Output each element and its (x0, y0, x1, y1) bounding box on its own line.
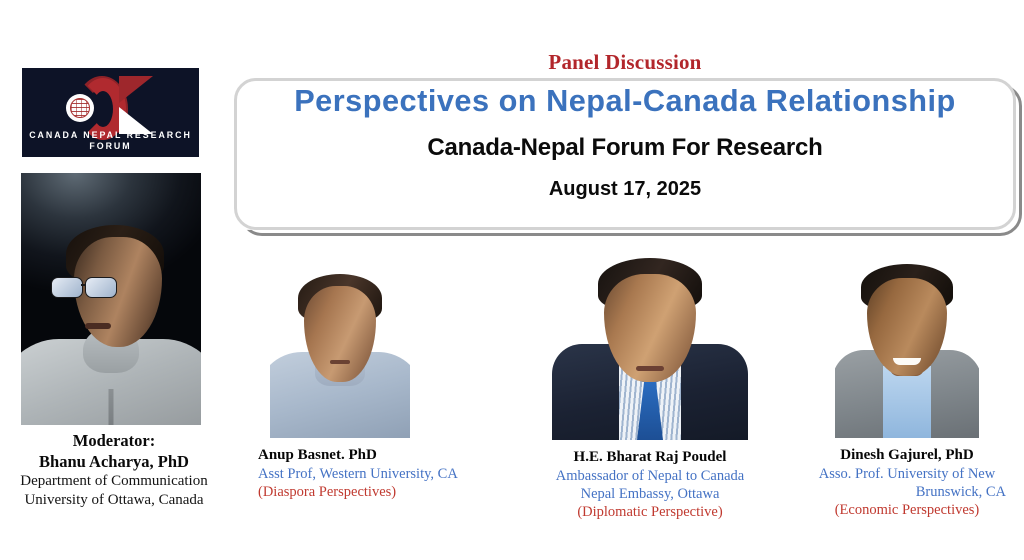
panelist-1-caption: Anup Basnet. PhD Asst Prof, Western Univ… (250, 446, 510, 501)
moderator-photo-glasses-right-icon (85, 277, 117, 298)
moderator-photo-mouth (85, 323, 111, 329)
logo-globe-icon (66, 94, 94, 122)
panelist-3-name: Dinesh Gajurel, PhD (790, 446, 1024, 465)
panelist-2-affiliation-line-1: Ambassador of Nepal to Canada (520, 467, 780, 485)
moderator-name: Bhanu Acharya, PhD (0, 451, 228, 472)
panelist-2-affiliation-line-2: Nepal Embassy, Ottawa (520, 485, 780, 503)
panelist-card-3: Dinesh Gajurel, PhD Asso. Prof. Universi… (790, 248, 1024, 519)
header-text-group: Panel Discussion Perspectives on Nepal-C… (234, 52, 1016, 201)
panelist-2-name: H.E. Bharat Raj Poudel (520, 448, 780, 467)
moderator-photo-glasses-left-icon (51, 277, 83, 298)
panelist-1-affiliation-line-1: Asst Prof, Western University, CA (258, 465, 510, 483)
moderator-department: Department of Communication (0, 472, 228, 491)
canada-nepal-research-forum-logo: CANADA NEPAL RESEARCH FORUM (22, 68, 199, 157)
panelist-2-perspective: (Diplomatic Perspective) (520, 503, 780, 521)
moderator-caption: Moderator: Bhanu Acharya, PhD Department… (0, 430, 228, 511)
page-title: Perspectives on Nepal-Canada Relationshi… (238, 85, 1012, 118)
logo-triangle-red-icon (119, 76, 153, 103)
panelist-3-affiliation-line-2: Brunswick, CA (790, 483, 1024, 501)
event-date: August 17, 2025 (234, 178, 1016, 201)
panelist-1-photo (270, 248, 410, 438)
panelist-3-caption: Dinesh Gajurel, PhD Asso. Prof. Universi… (790, 446, 1024, 519)
panelist-card-2: H.E. Bharat Raj Poudel Ambassador of Nep… (520, 248, 780, 521)
moderator-institution: University of Ottawa, Canada (0, 491, 228, 510)
moderator-photo (21, 173, 201, 425)
logo-caption: CANADA NEPAL RESEARCH FORUM (28, 130, 193, 152)
moderator-column: CANADA NEPAL RESEARCH FORUM Moderator: B… (0, 0, 230, 560)
panelist-2-caption: H.E. Bharat Raj Poudel Ambassador of Nep… (520, 448, 780, 521)
panelist-2-photo (550, 248, 750, 440)
moderator-role-label: Moderator: (0, 430, 228, 451)
panelist-2-mouth (636, 366, 664, 371)
organization-name: Canada-Nepal Forum For Research (234, 134, 1016, 162)
panelist-3-perspective: (Economic Perspectives) (790, 501, 1024, 519)
panel-kicker: Panel Discussion (234, 52, 1016, 73)
panelist-1-mouth (330, 360, 350, 364)
panelist-3-shirt (883, 366, 931, 438)
panelist-1-name: Anup Basnet. PhD (258, 446, 510, 465)
panelist-card-1: Anup Basnet. PhD Asst Prof, Western Univ… (250, 248, 510, 501)
panelist-1-perspective: (Diaspora Perspectives) (258, 483, 510, 501)
panelist-3-smile (893, 358, 921, 365)
panelist-3-affiliation-line-1: Asso. Prof. University of New (790, 465, 1024, 483)
moderator-photo-zipper (109, 389, 114, 425)
panelist-3-photo (835, 248, 979, 438)
moderator-photo-glasses-bridge (81, 284, 86, 286)
